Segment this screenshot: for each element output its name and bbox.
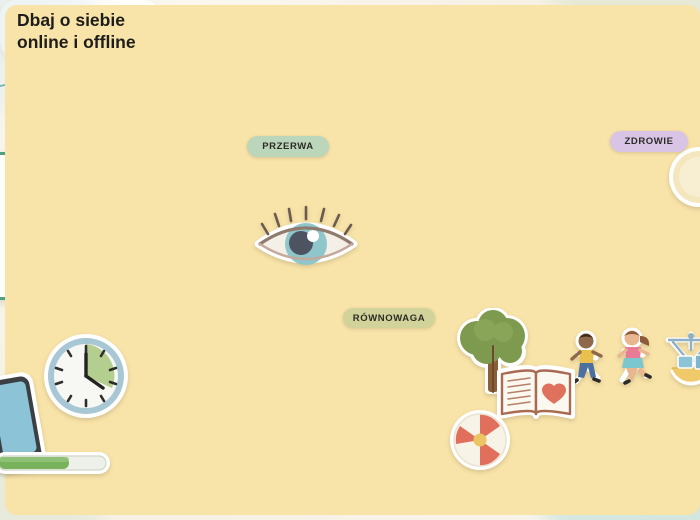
clock-icon — [42, 332, 130, 420]
cream-circle-icon — [668, 146, 700, 208]
card-tip-line2: online i offline — [17, 31, 700, 53]
running-girl-icon — [612, 326, 658, 390]
badge-rownowaga: RÓWNOWAGA — [343, 308, 435, 328]
card-tip: Dbaj o siebie online i offline — [0, 0, 160, 58]
beach-ball-icon — [448, 408, 512, 472]
badge-zdrowie: ZDROWIE — [610, 131, 688, 152]
infographic-canvas: Czas ekranowy i cyfrowa równowaga PRZERW… — [0, 0, 700, 520]
eye-icon — [252, 200, 360, 278]
progress-bar-icon — [0, 448, 112, 478]
card-tip-line1: Dbaj o siebie — [17, 9, 700, 31]
badge-przerwa: PRZERWA — [247, 136, 329, 157]
balance-scale-icon — [660, 330, 700, 392]
